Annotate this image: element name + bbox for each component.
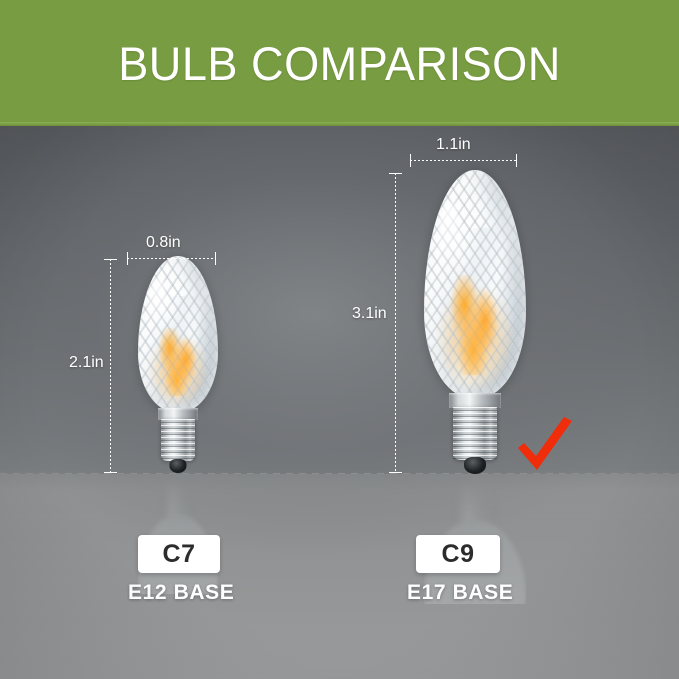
page-title: BULB COMPARISON — [118, 40, 561, 87]
banner-bottom-edge — [0, 122, 679, 126]
header-banner: BULB COMPARISON — [0, 0, 679, 126]
bulb-comparison-infographic: BULB COMPARISON — [0, 0, 679, 679]
product-scene: 0.8in 2.1in 1.1in 3.1in C7 E12 BASE C9 E… — [0, 126, 679, 679]
scene-vignette — [0, 126, 679, 679]
